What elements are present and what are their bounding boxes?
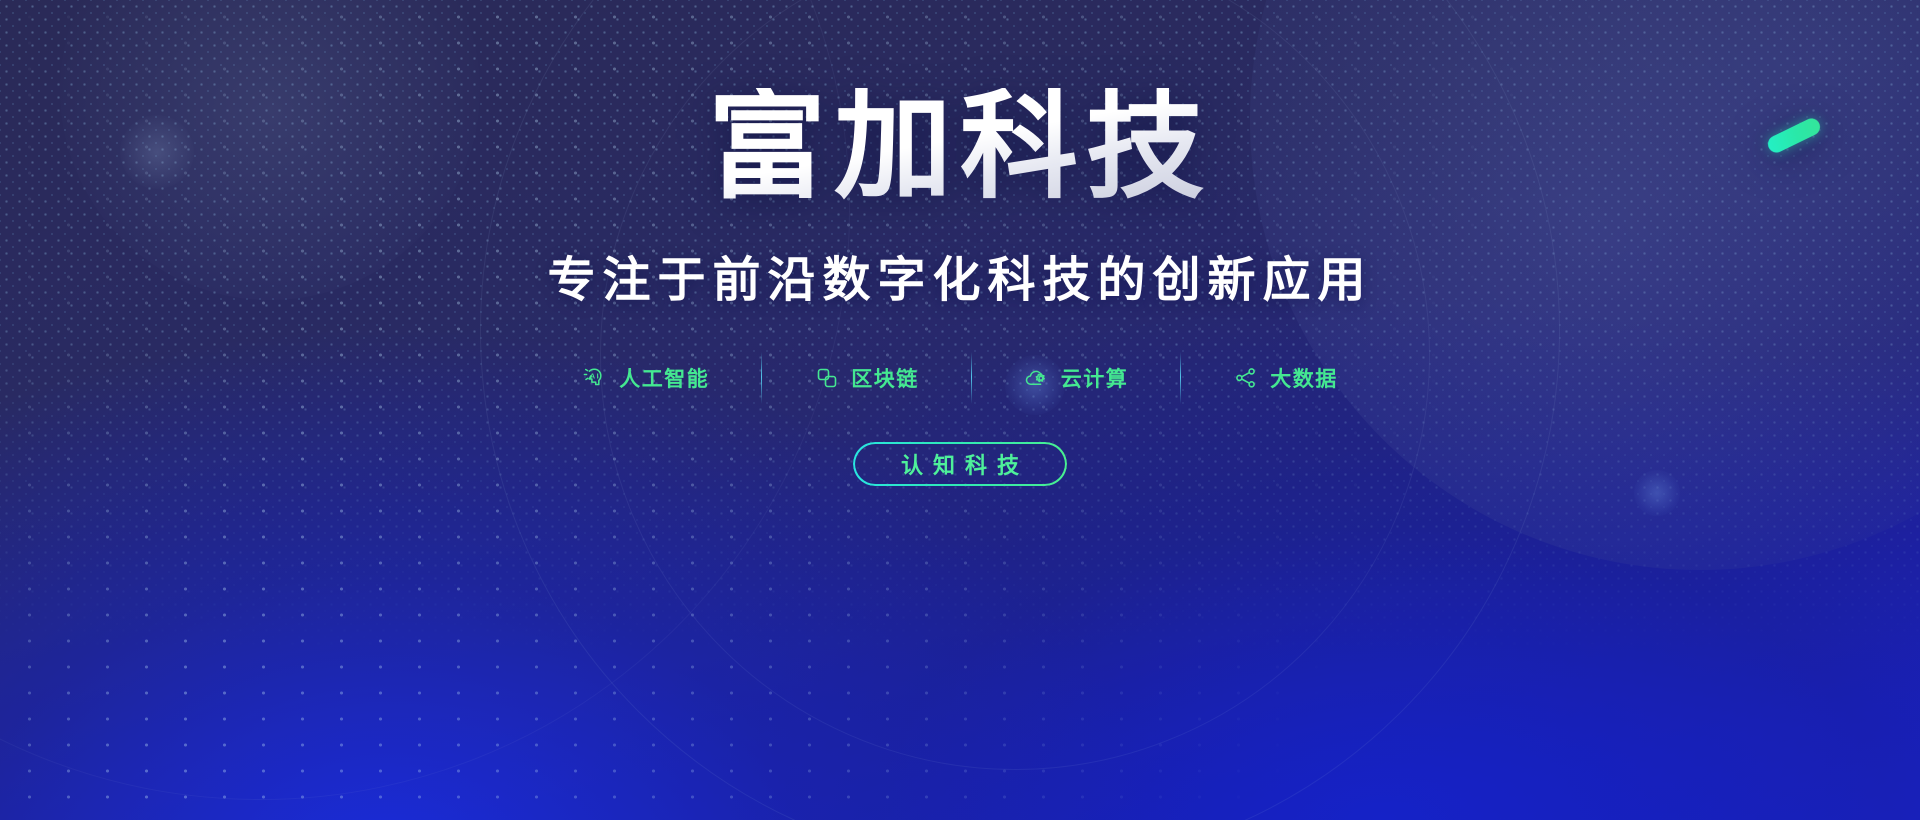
brand-logo-text: 富加科技 [708,81,1212,213]
feature-tag-cloud[interactable]: 云计算 [972,363,1181,393]
share-nodes-icon [1233,365,1259,391]
cognitive-tech-button[interactable]: 认知科技 [853,442,1067,486]
feature-tag-list: AI 人工智能 区块链 [530,352,1390,404]
cognitive-tech-button-label: 认知科技 [891,448,1029,480]
cloud-gear-icon [1024,365,1050,391]
feature-tag-ai[interactable]: AI 人工智能 [530,363,761,393]
svg-text:AI: AI [590,371,600,380]
feature-tag-label: 大数据 [1270,363,1338,393]
hero-content: 富加科技 专注于前沿数字化科技的创新应用 AI 人工智能 [0,0,1920,820]
feature-tag-label: 云计算 [1061,363,1129,393]
feature-tag-label: 人工智能 [619,363,709,393]
feature-tag-blockchain[interactable]: 区块链 [762,363,971,393]
page-tagline: 专注于前沿数字化科技的创新应用 [547,240,1372,310]
feature-tag-bigdata[interactable]: 大数据 [1181,363,1390,393]
brand-logo: 富加科技 [708,88,1212,206]
blockchain-icon [814,365,840,391]
ai-head-icon: AI [582,365,608,391]
hero-banner: 富加科技 专注于前沿数字化科技的创新应用 AI 人工智能 [0,0,1920,820]
feature-tag-label: 区块链 [851,363,919,393]
logo-accent-stroke [1765,116,1823,156]
